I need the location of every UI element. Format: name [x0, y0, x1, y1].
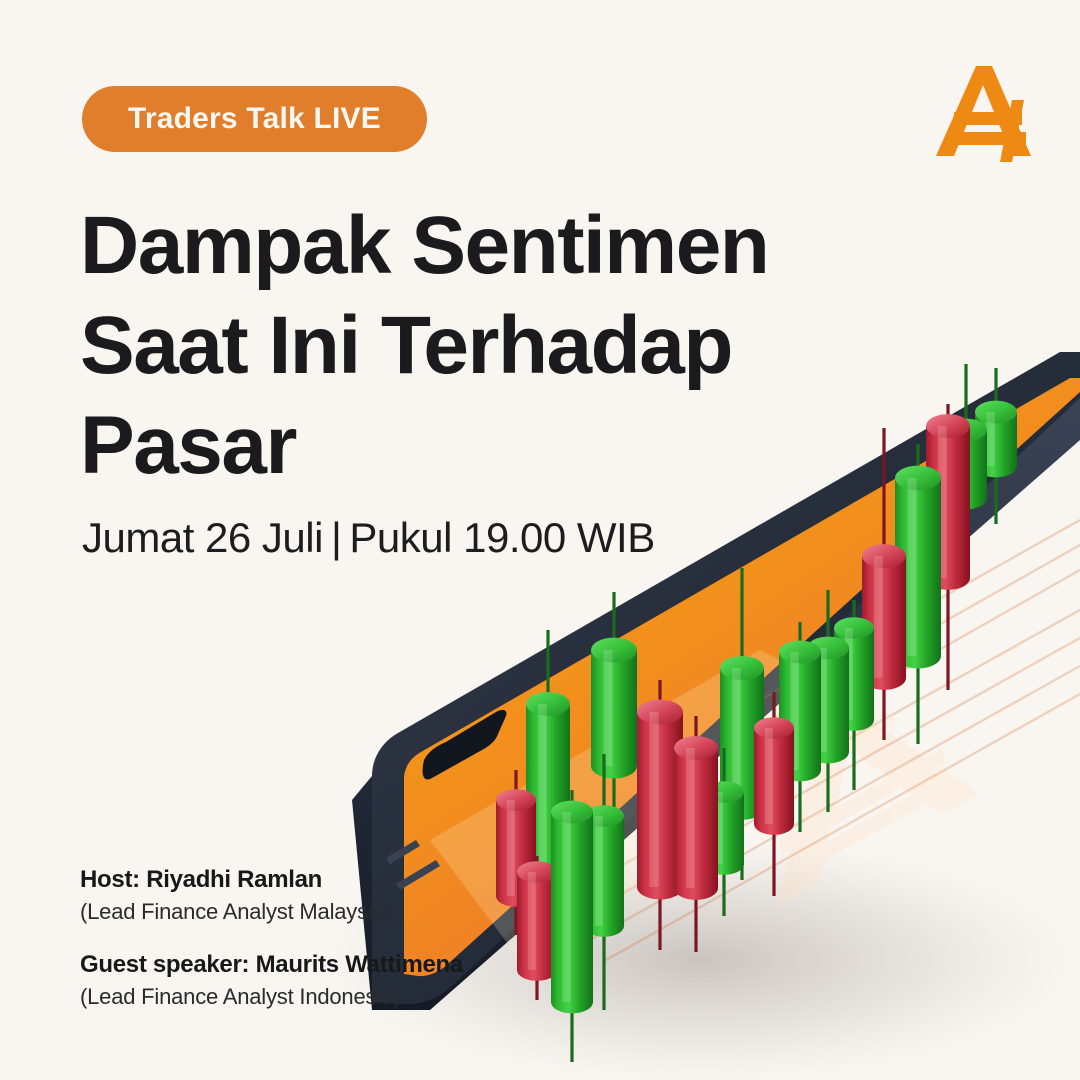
- candlestick-15-green: [526, 630, 570, 960]
- event-datetime: Jumat 26 Juli|Pukul 19.00 WIB: [82, 514, 655, 562]
- event-date: Jumat 26 Juli: [82, 514, 323, 561]
- screen-stripes: [560, 520, 1080, 960]
- candlestick-2-green: [945, 364, 987, 560]
- candlestick-4-green: [895, 444, 941, 744]
- speaker-credits: Host: Riyadhi Ramlan (Lead Finance Analy…: [80, 866, 463, 1036]
- candlestick-5-red: [862, 428, 906, 740]
- live-badge[interactable]: Traders Talk LIVE: [82, 86, 427, 152]
- screen-logo-watermark: [739, 668, 981, 906]
- candlestick-10-green: [720, 568, 764, 880]
- candlestick-11-red: [754, 692, 794, 896]
- page-title: Dampak Sentimen Saat Ini Terhadap Pasar: [80, 196, 768, 496]
- candlestick-14-red: [674, 716, 718, 952]
- ascendex-a-logo-icon: [932, 60, 1036, 162]
- candlestick-3-red: [926, 404, 970, 690]
- candlestick-9-green: [779, 622, 821, 832]
- candlestick-12-green: [704, 748, 744, 916]
- candlestick-7-green: [807, 590, 849, 812]
- candlestick-13-red: [637, 680, 683, 950]
- headline-line-3: Pasar: [80, 396, 768, 496]
- phone-notch: [423, 710, 507, 779]
- headline-line-1: Dampak Sentimen: [80, 196, 768, 296]
- candlestick-16-red: [496, 770, 536, 935]
- event-time: Pukul 19.00 WIB: [349, 514, 654, 561]
- candlestick-8-green: [591, 592, 637, 880]
- guest-name: Guest speaker: Maurits Wattimena: [80, 951, 463, 979]
- volume-button: [386, 840, 420, 864]
- host-role: (Lead Finance Analyst Malaysia): [80, 899, 463, 925]
- host-block: Host: Riyadhi Ramlan (Lead Finance Analy…: [80, 866, 463, 925]
- guest-block: Guest speaker: Maurits Wattimena (Lead F…: [80, 951, 463, 1010]
- candlestick-1-green: [975, 368, 1017, 524]
- candlestick-6-green: [834, 600, 874, 790]
- datetime-separator: |: [323, 514, 349, 561]
- host-name: Host: Riyadhi Ramlan: [80, 866, 463, 894]
- poster-canvas: Traders Talk LIVE Dampak Sentimen Saat I…: [0, 0, 1080, 1080]
- live-badge-label: Traders Talk LIVE: [128, 102, 381, 136]
- screen-sheen: [430, 650, 900, 960]
- candlestick-17-green: [584, 754, 624, 1010]
- candlestick-19-green: [551, 790, 593, 1062]
- candlestick-18-red: [517, 856, 557, 1000]
- headline-line-2: Saat Ini Terhadap: [80, 296, 768, 396]
- guest-role: (Lead Finance Analyst Indonesia): [80, 984, 463, 1010]
